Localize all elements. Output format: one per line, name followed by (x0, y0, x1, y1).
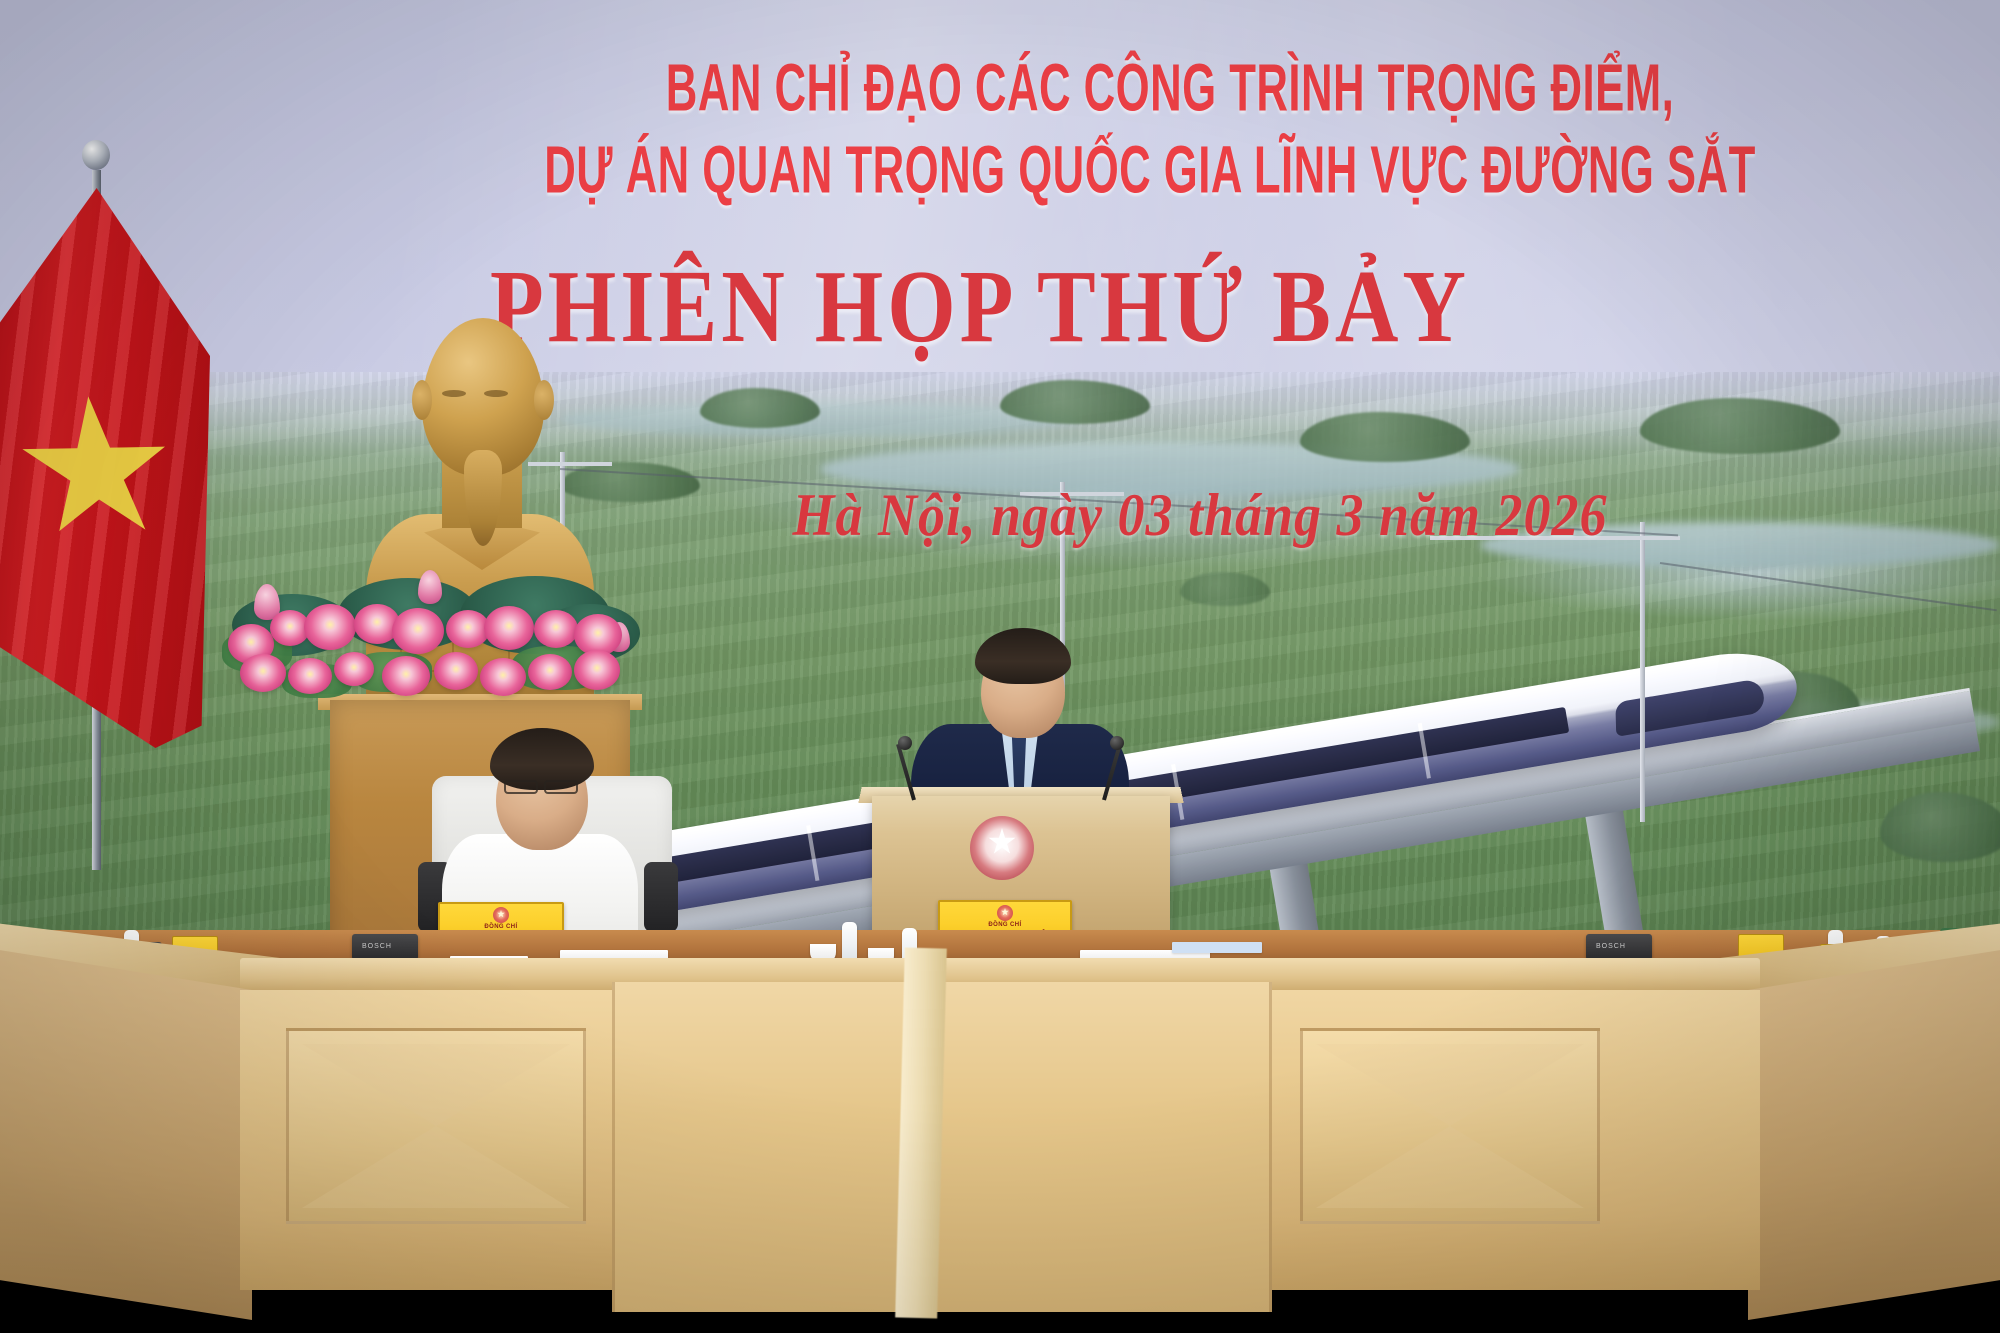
lotus-flower (240, 654, 286, 692)
lotus-flower (574, 650, 620, 690)
table-panel-left (0, 950, 252, 1320)
nameplate-emblem-icon (493, 907, 509, 923)
table-panel-right (1748, 950, 2000, 1320)
catenary-pole (1640, 522, 1645, 822)
lotus-flower (288, 658, 332, 694)
lotus-flower (484, 606, 534, 650)
conference-table (0, 930, 2000, 1333)
podium-microphone-head (898, 736, 912, 750)
lotus-bud (418, 570, 442, 604)
document-stack (1172, 942, 1262, 953)
train-windshield (1615, 678, 1764, 737)
banner-line-2: DỰ ÁN QUAN TRỌNG QUỐC GIA LĨNH VỰC ĐƯỜNG… (378, 130, 1922, 208)
lotus-flower (304, 604, 356, 650)
delegate-microphone (352, 934, 418, 960)
official-glasses (504, 780, 538, 794)
podium-microphone-head (1110, 736, 1124, 750)
banner-date-line: Hà Nội, ngày 03 tháng 3 năm 2026 (600, 480, 1800, 549)
banner-line-1: BAN CHỈ ĐẠO CÁC CÔNG TRÌNH TRỌNG ĐIỂM, (426, 48, 1914, 126)
speaker-hair (975, 628, 1071, 684)
lotus-flower (434, 652, 478, 690)
lotus-flower (528, 654, 572, 690)
lotus-flower (382, 656, 430, 696)
delegate-microphone (1586, 934, 1652, 960)
nameplate-prefix: ĐỒNG CHÍ (940, 921, 1070, 929)
emblem-circle (970, 816, 1034, 880)
bust-ear-left (412, 380, 432, 420)
lotus-flower (534, 610, 578, 648)
official-glasses (544, 780, 578, 794)
lotus-flower (480, 658, 526, 696)
flag-finial-icon (82, 140, 110, 170)
nameplate-emblem-icon (997, 905, 1013, 921)
speaker-at-podium (905, 628, 1135, 808)
bust-ear-right (534, 380, 554, 420)
lotus-bouquet (222, 548, 642, 698)
lotus-flower (392, 608, 444, 654)
lotus-flower (334, 652, 374, 686)
bust-eye-right (484, 390, 508, 397)
meeting-room-photo: BAN CHỈ ĐẠO CÁC CÔNG TRÌNH TRỌNG ĐIỂM, D… (0, 0, 2000, 1333)
vietnam-national-emblem-icon (966, 812, 1038, 884)
bust-eye-left (442, 390, 466, 397)
